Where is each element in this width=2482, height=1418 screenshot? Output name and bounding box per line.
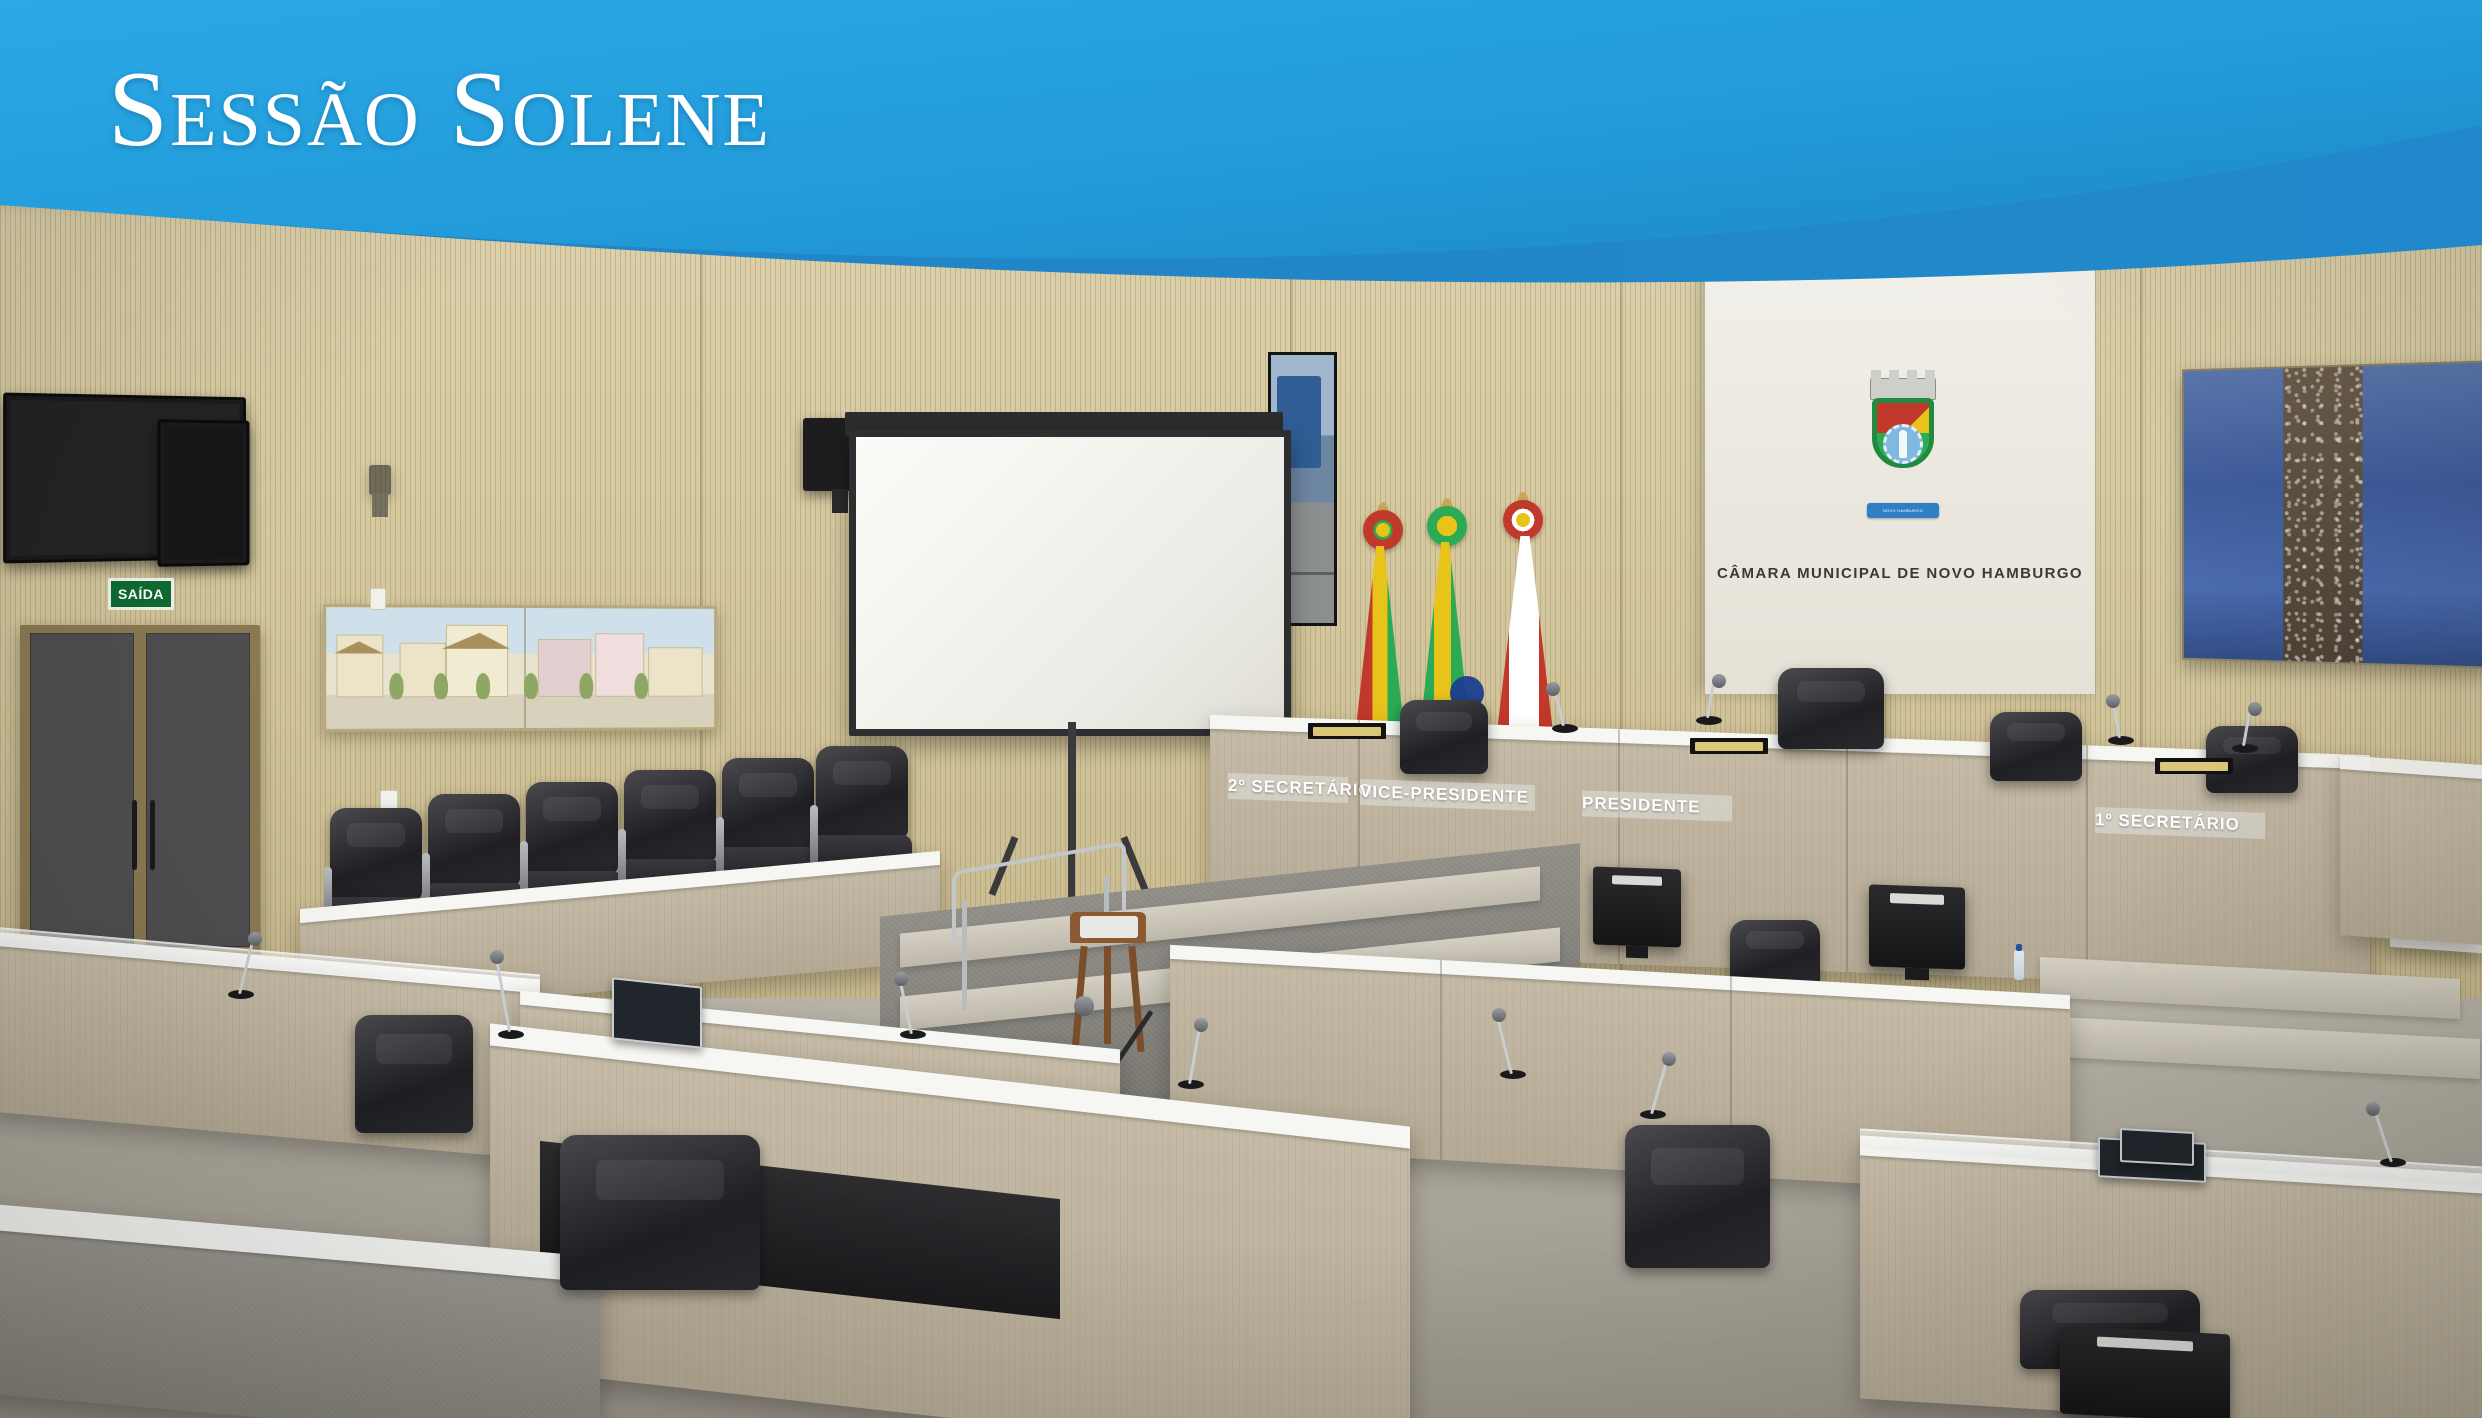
desk-tablet[interactable] bbox=[2120, 1128, 2194, 1166]
saida-label: SAÍDA bbox=[118, 586, 164, 602]
chair-back bbox=[330, 808, 422, 900]
pintura-abstrata-azul bbox=[2182, 360, 2482, 668]
painting-tree bbox=[524, 673, 538, 699]
page-title: Sessão Solene bbox=[108, 52, 771, 169]
desk-tablet[interactable] bbox=[612, 977, 702, 1048]
door-handle[interactable] bbox=[132, 800, 137, 870]
chair-back bbox=[428, 794, 520, 886]
chair-back bbox=[355, 1015, 473, 1133]
bench-monitor bbox=[1869, 884, 1965, 969]
crest-ribbon-text: NOVO HAMBURGO bbox=[1867, 503, 1939, 518]
chair-back bbox=[1400, 700, 1488, 774]
desk-nameplate bbox=[2155, 758, 2233, 774]
tribuna-face bbox=[2340, 755, 2482, 945]
painting-tree bbox=[579, 673, 593, 699]
painting-texture-band bbox=[2284, 366, 2363, 663]
crest-ribbon: NOVO HAMBURGO bbox=[1867, 503, 1939, 518]
water-bottle bbox=[2014, 950, 2024, 980]
crest-wall-header bbox=[1705, 244, 2095, 254]
stool-equipment bbox=[1080, 916, 1138, 938]
painel-cidade-historica bbox=[323, 604, 717, 732]
flag-rosette bbox=[1427, 506, 1467, 546]
chair-arm bbox=[810, 805, 818, 864]
chair-back bbox=[1778, 668, 1884, 749]
chair-back bbox=[624, 770, 716, 862]
wall-speaker-small bbox=[369, 465, 391, 495]
flag-rosette bbox=[1503, 500, 1543, 540]
vereador-chair[interactable] bbox=[1625, 1125, 1770, 1355]
chamber-door[interactable] bbox=[20, 625, 260, 955]
bench-label-text: VICE-PRESIDENTE bbox=[1360, 782, 1529, 808]
painting-tree bbox=[389, 673, 403, 699]
institution-label: CÂMARA MUNICIPAL DE NOVO HAMBURGO bbox=[1717, 565, 2083, 582]
bench-chair[interactable] bbox=[1990, 712, 2082, 824]
monitor-stand bbox=[1626, 946, 1647, 959]
bench-monitor bbox=[1593, 866, 1681, 947]
presidente-chair[interactable] bbox=[1778, 668, 1884, 798]
brasao-novo-hamburgo: NOVO HAMBURGO bbox=[1855, 378, 1951, 518]
bench-label-text: 1º SECRETÁRIO bbox=[2095, 810, 2240, 835]
chair-back bbox=[816, 746, 908, 838]
tribuna-base bbox=[2340, 755, 2482, 945]
desk-nameplate bbox=[1690, 738, 1768, 754]
painting-tree bbox=[634, 673, 648, 699]
bench-label-2-secretario: 2º SECRETÁRIO bbox=[1228, 773, 1348, 803]
chair-back bbox=[722, 758, 814, 850]
foreground-monitor bbox=[2060, 1326, 2230, 1418]
railing-post bbox=[962, 900, 967, 1011]
vereador-chair[interactable] bbox=[560, 1135, 760, 1385]
light-switch[interactable] bbox=[370, 588, 386, 610]
crest-boot-icon bbox=[1899, 430, 1907, 458]
flag-rosette bbox=[1363, 510, 1403, 550]
chair-arm bbox=[716, 817, 724, 876]
bench-label-presidente: PRESIDENTE bbox=[1582, 790, 1732, 821]
council-chamber-photo: NOVO HAMBURGO CÂMARA MUNICIPAL DE NOVO H… bbox=[0, 0, 2482, 1418]
monitor-stand bbox=[1905, 968, 1928, 981]
saida-sign: SAÍDA bbox=[108, 578, 174, 610]
chair-back bbox=[526, 782, 618, 874]
crest-crown-icon bbox=[1870, 378, 1936, 400]
sessao-solene-banner: NOVO HAMBURGO CÂMARA MUNICIPAL DE NOVO H… bbox=[0, 0, 2482, 1418]
chair-back bbox=[1625, 1125, 1770, 1268]
painting-building bbox=[648, 647, 702, 697]
chair-back bbox=[1990, 712, 2082, 781]
chair-back bbox=[560, 1135, 760, 1290]
stool-leg bbox=[1104, 946, 1111, 1044]
door-panel-right bbox=[146, 633, 250, 947]
door-handle[interactable] bbox=[150, 800, 155, 870]
desk-divider bbox=[1440, 960, 1442, 1160]
tela-de-projecao bbox=[849, 430, 1291, 736]
painting-tree bbox=[434, 673, 448, 699]
tv-screen-left-secondary bbox=[158, 419, 250, 567]
painting-tree bbox=[476, 673, 490, 699]
bench-label-text: 2º SECRETÁRIO bbox=[1228, 776, 1373, 801]
tv-screen-surface bbox=[165, 426, 243, 559]
desk-nameplate bbox=[1308, 723, 1386, 739]
projector-tripod-column bbox=[1068, 722, 1076, 852]
vereador-chair[interactable] bbox=[355, 1015, 473, 1205]
bench-label-text: PRESIDENTE bbox=[1582, 793, 1701, 817]
door-panel-left bbox=[30, 633, 134, 947]
painting-seam bbox=[524, 608, 526, 728]
bench-divider bbox=[2086, 745, 2088, 980]
